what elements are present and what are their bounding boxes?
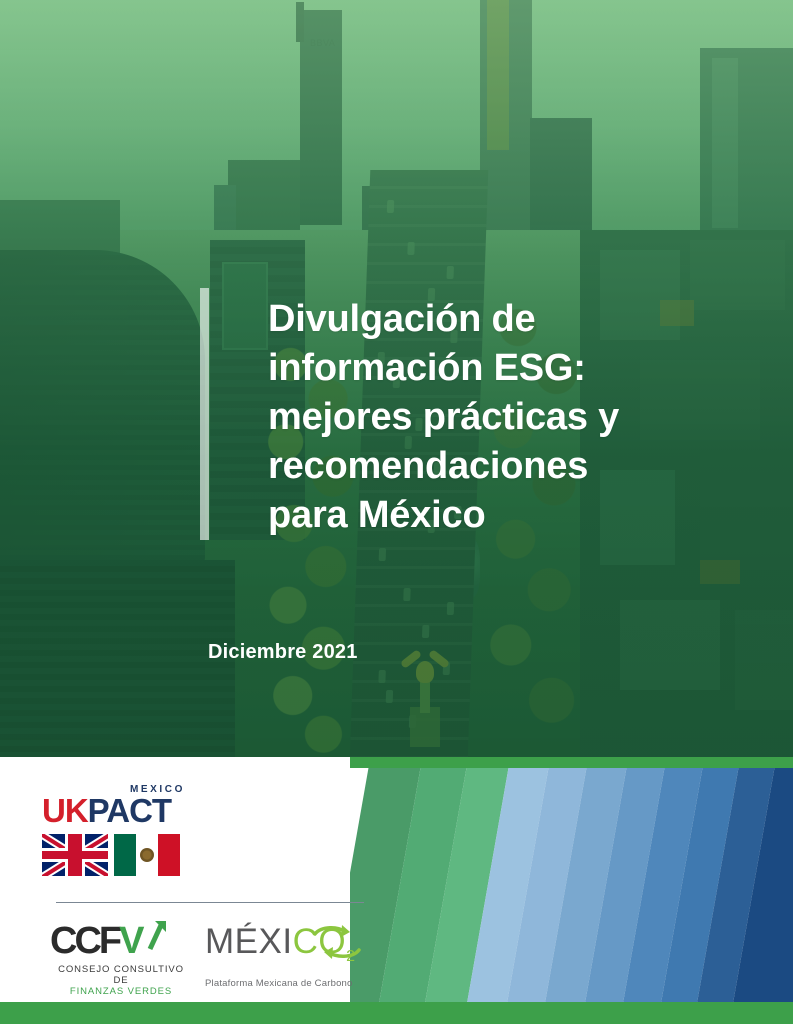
green-bar-bottom [0, 1002, 793, 1024]
page-title: Divulgación de información ESG: mejores … [268, 295, 688, 540]
mexico-flag-red-band [158, 834, 180, 876]
mexico-flag-icon [114, 834, 180, 876]
mexico2-wordmark: MÉXICO2 [205, 923, 385, 976]
ccfv-tagline-line2: FINANZAS VERDES [50, 986, 192, 997]
ukpact-wordmark: UKPACT [42, 794, 187, 828]
ccfv-v-text: V [119, 920, 141, 962]
mexico2-subscript: 2 [346, 948, 355, 965]
title-line-3: mejores prácticas y [268, 393, 688, 442]
green-bar-top [350, 757, 793, 768]
ukpact-logo[interactable]: MEXICO UKPACT [42, 784, 187, 876]
mexico2-co-text: CO [293, 922, 347, 961]
mexico-flag-green-band [114, 834, 136, 876]
publication-date: Diciembre 2021 [208, 641, 358, 664]
ccfv-tagline-line1: CONSEJO CONSULTIVO DE [50, 964, 192, 986]
ccfv-logo[interactable]: CCFV CONSEJO CONSULTIVO DE FINANZAS VERD… [50, 921, 195, 997]
title-vertical-rule [200, 288, 209, 540]
flag-row [42, 834, 187, 876]
mexico-flag-white-band [136, 834, 158, 876]
ccfv-ccf-text: CCF [50, 920, 119, 962]
mexico-coat-of-arms-icon [140, 848, 154, 862]
title-line-4: recomendaciones [268, 442, 688, 491]
ukpact-pact-text: PACT [88, 792, 171, 829]
title-line-2: información ESG: [268, 344, 688, 393]
cover-hero-image: BBVA [0, 0, 793, 757]
mexico2-mexi-text: MÉXI [205, 922, 293, 961]
diagonal-stripe-graphic [350, 768, 793, 1002]
ccfv-up-arrow-icon [146, 919, 168, 949]
mexico2-tagline: Plataforma Mexicana de Carbono [205, 978, 385, 989]
ukpact-uk-text: UK [42, 792, 88, 829]
title-line-5: para México [268, 491, 688, 540]
logo-panel: MEXICO UKPACT CCFV [0, 757, 350, 1002]
title-line-1: Divulgación de [268, 295, 688, 344]
united-kingdom-flag-icon [42, 834, 108, 876]
logo-divider [56, 902, 364, 903]
cover-page: BBVA [0, 0, 793, 1024]
ccfv-wordmark: CCFV [50, 921, 195, 961]
mexico2-logo[interactable]: MÉXICO2 Plataforma Mexicana de Carbono [205, 923, 385, 989]
